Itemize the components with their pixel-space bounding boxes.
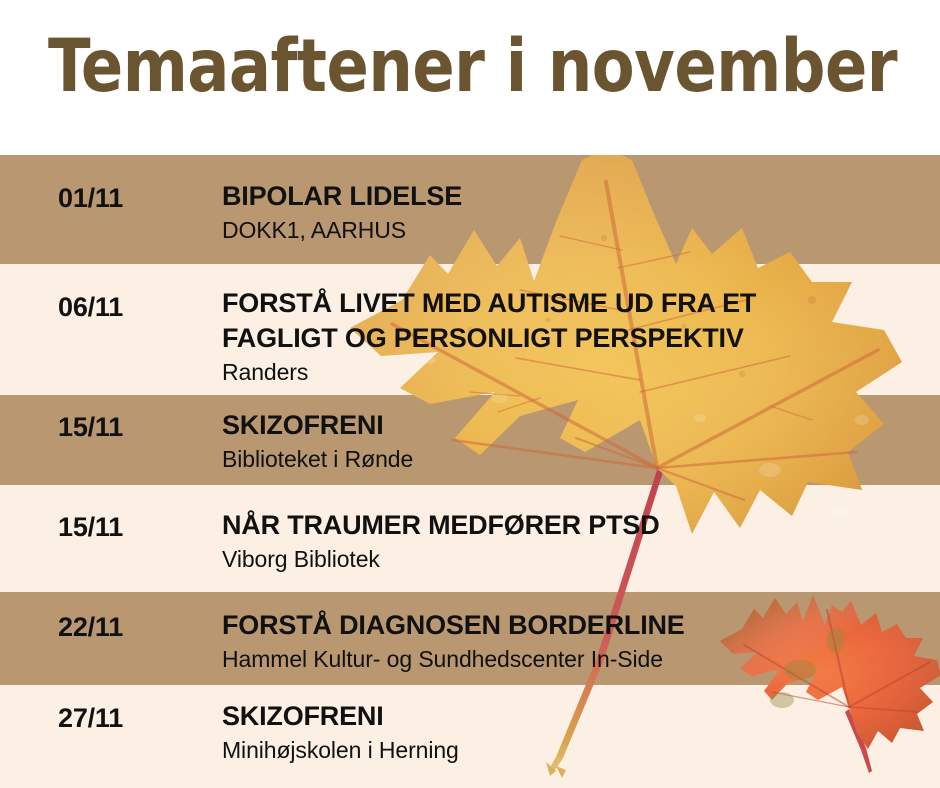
event-row[interactable]: 06/11 FORSTÅ LIVET MED AUTISME UD FRA ET…	[0, 264, 940, 395]
event-body: SKIZOFRENI Biblioteket i Rønde	[222, 408, 930, 474]
event-row[interactable]: 15/11 SKIZOFRENI Biblioteket i Rønde	[0, 395, 940, 485]
event-venue: Biblioteket i Rønde	[222, 443, 930, 474]
event-title: BIPOLAR LIDELSE	[222, 179, 930, 214]
event-venue: Viborg Bibliotek	[222, 543, 930, 574]
event-row[interactable]: 01/11 BIPOLAR LIDELSE DOKK1, AARHUS	[0, 155, 940, 264]
event-title: NÅR TRAUMER MEDFØRER PTSD	[222, 508, 930, 543]
event-venue: Hammel Kultur- og Sundhedscenter In-Side	[222, 643, 930, 674]
event-body: FORSTÅ DIAGNOSEN BORDERLINE Hammel Kultu…	[222, 608, 930, 674]
event-title: SKIZOFRENI	[222, 699, 930, 734]
event-body: SKIZOFRENI Minihøjskolen i Herning	[222, 699, 930, 765]
event-date: 06/11	[58, 292, 123, 322]
event-date: 15/11	[58, 512, 123, 542]
event-date: 22/11	[58, 612, 123, 642]
event-body: NÅR TRAUMER MEDFØRER PTSD Viborg Bibliot…	[222, 508, 930, 574]
event-body: FORSTÅ LIVET MED AUTISME UD FRA ET FAGLI…	[222, 286, 822, 387]
event-date: 01/11	[58, 183, 123, 213]
event-venue: Minihøjskolen i Herning	[222, 734, 930, 765]
event-row[interactable]: 22/11 FORSTÅ DIAGNOSEN BORDERLINE Hammel…	[0, 592, 940, 685]
event-body: BIPOLAR LIDELSE DOKK1, AARHUS	[222, 179, 930, 245]
event-title: FORSTÅ DIAGNOSEN BORDERLINE	[222, 608, 930, 643]
event-title: FORSTÅ LIVET MED AUTISME UD FRA ET FAGLI…	[222, 286, 822, 356]
event-venue: DOKK1, AARHUS	[222, 214, 930, 245]
event-title: SKIZOFRENI	[222, 408, 930, 443]
event-row[interactable]: 15/11 NÅR TRAUMER MEDFØRER PTSD Viborg B…	[0, 485, 940, 592]
event-date: 15/11	[58, 412, 123, 442]
event-row[interactable]: 27/11 SKIZOFRENI Minihøjskolen i Herning	[0, 685, 940, 788]
poster-header: Temaaftener i november	[0, 0, 940, 155]
event-venue: Randers	[222, 356, 822, 387]
poster-canvas: Temaaftener i november 01/11 BIPOLAR LID…	[0, 0, 940, 788]
page-title: Temaaftener i november	[48, 26, 897, 108]
event-date: 27/11	[58, 703, 123, 733]
